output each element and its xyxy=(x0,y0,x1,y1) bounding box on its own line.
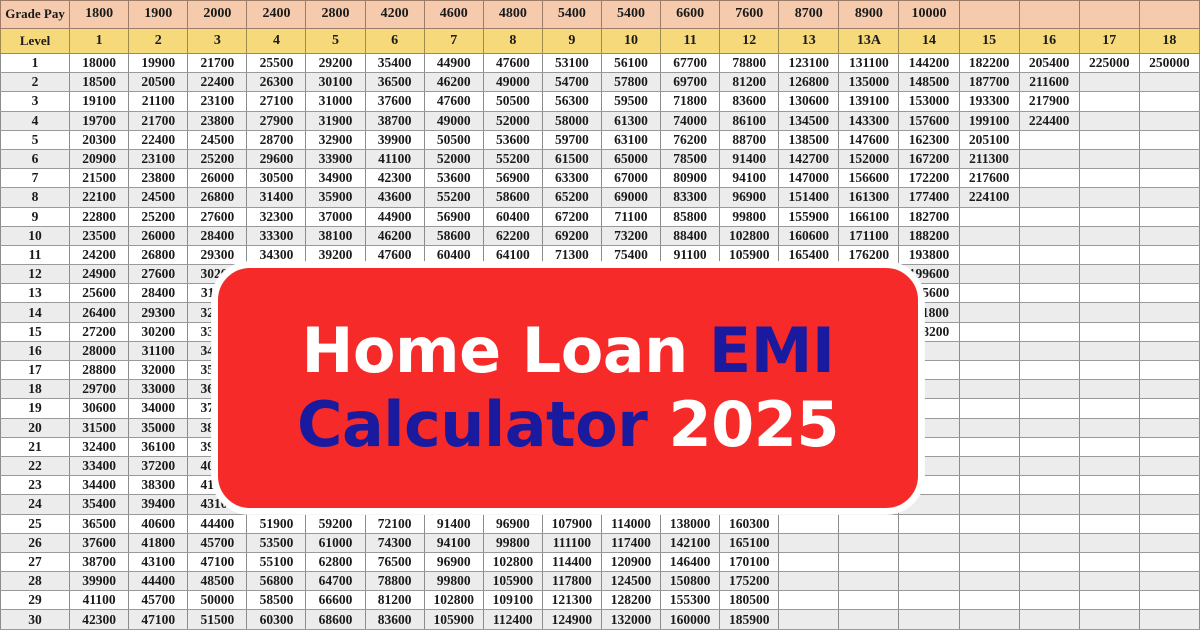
pay-cell xyxy=(899,572,959,591)
row-level-index: 17 xyxy=(1,361,70,380)
level-header-14: 14 xyxy=(899,29,959,54)
pay-cell: 56900 xyxy=(424,207,483,226)
pay-cell: 22100 xyxy=(70,188,129,207)
row-level-index: 9 xyxy=(1,207,70,226)
pay-cell xyxy=(1079,265,1139,284)
pay-cell: 205100 xyxy=(959,130,1019,149)
pay-cell: 36500 xyxy=(365,73,424,92)
pay-cell: 83600 xyxy=(720,92,779,111)
pay-cell: 56100 xyxy=(601,54,660,73)
pay-cell xyxy=(1079,476,1139,495)
pay-cell: 29600 xyxy=(247,149,306,168)
row-level-index: 13 xyxy=(1,284,70,303)
pay-cell xyxy=(1019,226,1079,245)
row-level-index: 12 xyxy=(1,265,70,284)
pay-cell: 94100 xyxy=(424,533,483,552)
level-header-17: 17 xyxy=(1079,29,1139,54)
row-level-index: 20 xyxy=(1,418,70,437)
pay-cell: 27900 xyxy=(247,111,306,130)
pay-cell xyxy=(1079,226,1139,245)
pay-cell xyxy=(1079,399,1139,418)
row-level-index: 11 xyxy=(1,245,70,264)
pay-cell xyxy=(899,533,959,552)
table-row: 8221002450026800314003590043600552005860… xyxy=(1,188,1200,207)
level-header-9: 9 xyxy=(542,29,601,54)
table-row: 3042300471005150060300686008360010590011… xyxy=(1,610,1200,629)
pay-cell xyxy=(1019,495,1079,514)
pay-cell: 31000 xyxy=(306,92,365,111)
row-level-index: 21 xyxy=(1,437,70,456)
pay-cell: 33000 xyxy=(129,380,188,399)
pay-cell: 23100 xyxy=(129,149,188,168)
pay-cell: 99800 xyxy=(424,572,483,591)
row-level-index: 3 xyxy=(1,92,70,111)
pay-cell: 27600 xyxy=(188,207,247,226)
row-level-index: 29 xyxy=(1,591,70,610)
grade-pay-corner-label: Grade Pay xyxy=(1,1,70,29)
row-level-index: 16 xyxy=(1,341,70,360)
pay-cell xyxy=(1139,552,1199,571)
pay-cell xyxy=(959,361,1019,380)
row-level-index: 7 xyxy=(1,169,70,188)
pay-cell: 224400 xyxy=(1019,111,1079,130)
pay-cell: 114400 xyxy=(542,552,601,571)
pay-cell xyxy=(1079,591,1139,610)
level-corner-label: Level xyxy=(1,29,70,54)
pay-cell: 74000 xyxy=(661,111,720,130)
level-header-4: 4 xyxy=(247,29,306,54)
level-header-16: 16 xyxy=(1019,29,1079,54)
grade-pay-header-16 xyxy=(959,1,1019,29)
pay-cell xyxy=(1139,73,1199,92)
pay-cell: 59500 xyxy=(601,92,660,111)
pay-cell xyxy=(1139,111,1199,130)
row-level-index: 25 xyxy=(1,514,70,533)
pay-cell xyxy=(1139,322,1199,341)
pay-cell: 19900 xyxy=(129,54,188,73)
pay-cell: 71800 xyxy=(661,92,720,111)
pay-cell xyxy=(1139,591,1199,610)
pay-cell: 19700 xyxy=(70,111,129,130)
pay-cell xyxy=(1079,130,1139,149)
pay-cell: 148500 xyxy=(899,73,959,92)
pay-cell xyxy=(1139,303,1199,322)
pay-cell xyxy=(1139,610,1199,629)
pay-cell xyxy=(959,476,1019,495)
pay-cell xyxy=(959,591,1019,610)
pay-cell xyxy=(1079,188,1139,207)
pay-cell: 56800 xyxy=(247,572,306,591)
pay-cell: 47600 xyxy=(483,54,542,73)
pay-cell: 130600 xyxy=(779,92,839,111)
pay-cell xyxy=(779,514,839,533)
pay-cell xyxy=(1139,437,1199,456)
pay-cell: 25600 xyxy=(70,284,129,303)
pay-cell xyxy=(959,533,1019,552)
pay-cell: 22400 xyxy=(129,130,188,149)
pay-cell xyxy=(1019,265,1079,284)
pay-cell xyxy=(1079,533,1139,552)
level-header-15: 15 xyxy=(959,29,1019,54)
level-header-18: 18 xyxy=(1139,29,1199,54)
pay-cell: 22800 xyxy=(70,207,129,226)
pay-cell: 38700 xyxy=(365,111,424,130)
pay-cell: 33400 xyxy=(70,456,129,475)
table-row: 7215002380026000305003490042300536005690… xyxy=(1,169,1200,188)
pay-cell: 67200 xyxy=(542,207,601,226)
pay-cell: 26300 xyxy=(247,73,306,92)
pay-cell: 33900 xyxy=(306,149,365,168)
pay-cell: 135000 xyxy=(839,73,899,92)
pay-cell: 43100 xyxy=(129,552,188,571)
pay-cell: 21500 xyxy=(70,169,129,188)
pay-cell xyxy=(1019,341,1079,360)
level-header-13A: 13A xyxy=(839,29,899,54)
pay-cell: 21100 xyxy=(129,92,188,111)
pay-cell: 107900 xyxy=(542,514,601,533)
pay-cell xyxy=(1019,380,1079,399)
pay-cell: 83300 xyxy=(661,188,720,207)
pay-cell: 47600 xyxy=(424,92,483,111)
pay-cell xyxy=(1139,380,1199,399)
pay-cell: 112400 xyxy=(483,610,542,629)
pay-cell: 29300 xyxy=(129,303,188,322)
pay-cell: 27600 xyxy=(129,265,188,284)
pay-cell: 59700 xyxy=(542,130,601,149)
pay-cell: 152000 xyxy=(839,149,899,168)
pay-cell: 18000 xyxy=(70,54,129,73)
pay-cell: 81200 xyxy=(365,591,424,610)
pay-cell xyxy=(1079,169,1139,188)
pay-cell xyxy=(839,533,899,552)
pay-cell: 160300 xyxy=(720,514,779,533)
pay-cell: 51900 xyxy=(247,514,306,533)
table-row: 2637600418004570053500610007430094100998… xyxy=(1,533,1200,552)
pay-cell: 96900 xyxy=(483,514,542,533)
pay-cell xyxy=(1079,380,1139,399)
grade-pay-header-19 xyxy=(1139,1,1199,29)
pay-cell: 25200 xyxy=(129,207,188,226)
pay-cell: 53500 xyxy=(247,533,306,552)
pay-cell: 31900 xyxy=(306,111,365,130)
pay-cell xyxy=(959,456,1019,475)
table-row: 2185002050022400263003010036500462004900… xyxy=(1,73,1200,92)
pay-cell xyxy=(1079,322,1139,341)
row-level-index: 6 xyxy=(1,149,70,168)
pay-cell: 59200 xyxy=(306,514,365,533)
pay-cell: 43600 xyxy=(365,188,424,207)
pay-cell: 155900 xyxy=(779,207,839,226)
pay-cell: 29300 xyxy=(188,245,247,264)
pay-cell xyxy=(1019,188,1079,207)
pay-cell: 32300 xyxy=(247,207,306,226)
banner-text-calculator: Calculator xyxy=(297,388,647,461)
pay-cell: 34000 xyxy=(129,399,188,418)
pay-cell: 109100 xyxy=(483,591,542,610)
pay-cell: 166100 xyxy=(839,207,899,226)
row-level-index: 5 xyxy=(1,130,70,149)
pay-cell xyxy=(959,552,1019,571)
pay-cell: 50500 xyxy=(483,92,542,111)
pay-cell: 55100 xyxy=(247,552,306,571)
banner-text-year: 2025 xyxy=(647,388,839,461)
pay-cell xyxy=(1019,572,1079,591)
pay-cell xyxy=(1079,361,1139,380)
pay-cell: 211600 xyxy=(1019,73,1079,92)
pay-cell: 42300 xyxy=(70,610,129,629)
pay-cell: 44900 xyxy=(365,207,424,226)
pay-cell: 35400 xyxy=(70,495,129,514)
pay-cell xyxy=(1079,456,1139,475)
pay-cell: 44900 xyxy=(424,54,483,73)
table-row: 6209002310025200296003390041100520005520… xyxy=(1,149,1200,168)
row-level-index: 30 xyxy=(1,610,70,629)
pay-cell: 48500 xyxy=(188,572,247,591)
banner-line-2: Calculator 2025 xyxy=(297,389,839,461)
pay-cell xyxy=(1139,284,1199,303)
pay-cell xyxy=(779,572,839,591)
pay-cell xyxy=(1079,552,1139,571)
pay-cell xyxy=(899,610,959,629)
pay-cell xyxy=(1139,456,1199,475)
pay-cell: 42300 xyxy=(365,169,424,188)
pay-cell: 126800 xyxy=(779,73,839,92)
pay-cell: 53600 xyxy=(424,169,483,188)
pay-cell: 73200 xyxy=(601,226,660,245)
pay-cell xyxy=(1079,341,1139,360)
pay-cell: 47100 xyxy=(188,552,247,571)
pay-cell: 47100 xyxy=(129,610,188,629)
pay-cell: 21700 xyxy=(188,54,247,73)
level-header-10: 10 xyxy=(601,29,660,54)
pay-cell xyxy=(1079,149,1139,168)
pay-cell xyxy=(959,265,1019,284)
pay-cell: 41800 xyxy=(129,533,188,552)
pay-cell: 78800 xyxy=(720,54,779,73)
pay-cell: 26800 xyxy=(188,188,247,207)
pay-cell xyxy=(1139,495,1199,514)
pay-cell: 117400 xyxy=(601,533,660,552)
row-level-index: 15 xyxy=(1,322,70,341)
pay-cell: 153000 xyxy=(899,92,959,111)
pay-cell xyxy=(839,514,899,533)
pay-cell: 114000 xyxy=(601,514,660,533)
pay-cell: 37600 xyxy=(365,92,424,111)
pay-cell: 171100 xyxy=(839,226,899,245)
table-row: 3191002110023100271003100037600476005050… xyxy=(1,92,1200,111)
pay-cell xyxy=(1079,284,1139,303)
pay-cell: 20300 xyxy=(70,130,129,149)
pay-cell: 44400 xyxy=(188,514,247,533)
pay-cell: 155300 xyxy=(661,591,720,610)
pay-cell xyxy=(1019,514,1079,533)
pay-cell: 64700 xyxy=(306,572,365,591)
pay-cell: 62200 xyxy=(483,226,542,245)
pay-cell: 224100 xyxy=(959,188,1019,207)
pay-cell xyxy=(1139,130,1199,149)
pay-cell: 28700 xyxy=(247,130,306,149)
pay-cell: 180500 xyxy=(720,591,779,610)
pay-cell: 52000 xyxy=(424,149,483,168)
pay-cell: 63300 xyxy=(542,169,601,188)
pay-cell: 83600 xyxy=(365,610,424,629)
pay-cell: 28400 xyxy=(129,284,188,303)
level-header-2: 2 xyxy=(129,29,188,54)
pay-cell: 23800 xyxy=(129,169,188,188)
pay-cell xyxy=(1019,322,1079,341)
grade-pay-header-row: Grade Pay 180019002000240028004200460048… xyxy=(1,1,1200,29)
pay-cell: 120900 xyxy=(601,552,660,571)
pay-cell xyxy=(899,514,959,533)
pay-cell: 65000 xyxy=(601,149,660,168)
pay-cell: 105900 xyxy=(424,610,483,629)
pay-cell xyxy=(899,591,959,610)
pay-cell: 80900 xyxy=(661,169,720,188)
pay-cell: 38100 xyxy=(306,226,365,245)
pay-cell xyxy=(1019,399,1079,418)
grade-pay-header-7: 4600 xyxy=(424,1,483,29)
pay-cell: 40600 xyxy=(129,514,188,533)
pay-cell xyxy=(1019,418,1079,437)
pay-cell xyxy=(959,437,1019,456)
pay-cell: 124500 xyxy=(601,572,660,591)
pay-cell: 26400 xyxy=(70,303,129,322)
pay-cell: 33300 xyxy=(247,226,306,245)
pay-cell: 32000 xyxy=(129,361,188,380)
pay-cell: 23500 xyxy=(70,226,129,245)
pay-cell: 29700 xyxy=(70,380,129,399)
pay-cell: 55200 xyxy=(424,188,483,207)
pay-cell: 205400 xyxy=(1019,54,1079,73)
pay-cell: 161300 xyxy=(839,188,899,207)
row-level-index: 2 xyxy=(1,73,70,92)
pay-cell xyxy=(1079,418,1139,437)
table-row: 2738700431004710055100628007650096900102… xyxy=(1,552,1200,571)
grade-pay-header-12: 7600 xyxy=(720,1,779,29)
pay-cell: 199100 xyxy=(959,111,1019,130)
pay-cell xyxy=(1139,207,1199,226)
level-header-7: 7 xyxy=(424,29,483,54)
table-row: 9228002520027600323003700044900569006040… xyxy=(1,207,1200,226)
pay-cell: 187700 xyxy=(959,73,1019,92)
pay-cell: 24500 xyxy=(188,130,247,149)
row-level-index: 19 xyxy=(1,399,70,418)
level-header-8: 8 xyxy=(483,29,542,54)
level-header-row: Level 1234567891011121313A1415161718 xyxy=(1,29,1200,54)
pay-cell: 85800 xyxy=(661,207,720,226)
pay-cell: 160600 xyxy=(779,226,839,245)
pay-cell xyxy=(959,284,1019,303)
row-level-index: 23 xyxy=(1,476,70,495)
pay-cell xyxy=(959,303,1019,322)
pay-cell: 35000 xyxy=(129,418,188,437)
pay-cell xyxy=(839,572,899,591)
level-header-11: 11 xyxy=(661,29,720,54)
table-row: 5203002240024500287003290039900505005360… xyxy=(1,130,1200,149)
pay-cell xyxy=(1139,226,1199,245)
pay-cell: 165100 xyxy=(720,533,779,552)
pay-cell xyxy=(1079,73,1139,92)
pay-cell xyxy=(839,552,899,571)
pay-cell: 102800 xyxy=(424,591,483,610)
pay-cell: 128200 xyxy=(601,591,660,610)
pay-cell: 58600 xyxy=(424,226,483,245)
level-header-3: 3 xyxy=(188,29,247,54)
pay-cell: 38700 xyxy=(70,552,129,571)
level-header-12: 12 xyxy=(720,29,779,54)
pay-cell: 63100 xyxy=(601,130,660,149)
pay-cell: 49000 xyxy=(424,111,483,130)
pay-cell: 24900 xyxy=(70,265,129,284)
pay-cell: 78800 xyxy=(365,572,424,591)
pay-cell: 26000 xyxy=(129,226,188,245)
pay-cell: 88700 xyxy=(720,130,779,149)
pay-cell xyxy=(959,226,1019,245)
pay-cell xyxy=(1079,514,1139,533)
pay-cell xyxy=(1139,572,1199,591)
pay-cell xyxy=(1079,610,1139,629)
pay-cell xyxy=(1019,361,1079,380)
pay-cell xyxy=(1139,533,1199,552)
grade-pay-header-15: 10000 xyxy=(899,1,959,29)
pay-cell: 18500 xyxy=(70,73,129,92)
pay-cell xyxy=(1079,111,1139,130)
pay-cell: 175200 xyxy=(720,572,779,591)
pay-cell: 69200 xyxy=(542,226,601,245)
pay-cell: 96900 xyxy=(424,552,483,571)
pay-cell xyxy=(1019,169,1079,188)
pay-cell: 217600 xyxy=(959,169,1019,188)
pay-cell: 37600 xyxy=(70,533,129,552)
grade-pay-header-17 xyxy=(1019,1,1079,29)
pay-cell: 193300 xyxy=(959,92,1019,111)
row-level-index: 18 xyxy=(1,380,70,399)
pay-cell: 26800 xyxy=(129,245,188,264)
pay-cell: 31100 xyxy=(129,341,188,360)
pay-cell: 45700 xyxy=(129,591,188,610)
grade-pay-header-6: 4200 xyxy=(365,1,424,29)
pay-cell xyxy=(1079,303,1139,322)
pay-cell xyxy=(1139,149,1199,168)
pay-cell: 170100 xyxy=(720,552,779,571)
pay-cell xyxy=(959,399,1019,418)
pay-cell xyxy=(1019,610,1079,629)
pay-cell: 142100 xyxy=(661,533,720,552)
table-row: 2839900444004850056800647007880099800105… xyxy=(1,572,1200,591)
table-head: Grade Pay 180019002000240028004200460048… xyxy=(1,1,1200,54)
pay-cell xyxy=(1139,188,1199,207)
pay-cell: 146400 xyxy=(661,552,720,571)
pay-cell: 49000 xyxy=(483,73,542,92)
pay-cell: 151400 xyxy=(779,188,839,207)
pay-cell: 167200 xyxy=(899,149,959,168)
pay-cell: 37200 xyxy=(129,456,188,475)
pay-cell: 51500 xyxy=(188,610,247,629)
pay-cell: 21700 xyxy=(129,111,188,130)
pay-cell: 38300 xyxy=(129,476,188,495)
pay-cell: 78500 xyxy=(661,149,720,168)
pay-cell: 37000 xyxy=(306,207,365,226)
pay-cell: 54700 xyxy=(542,73,601,92)
pay-cell xyxy=(1139,169,1199,188)
pay-cell: 20500 xyxy=(129,73,188,92)
pay-cell: 138000 xyxy=(661,514,720,533)
pay-cell: 58000 xyxy=(542,111,601,130)
row-level-index: 27 xyxy=(1,552,70,571)
pay-cell xyxy=(1019,149,1079,168)
pay-cell: 36500 xyxy=(70,514,129,533)
table-row: 1180001990021700255002920035400449004760… xyxy=(1,54,1200,73)
